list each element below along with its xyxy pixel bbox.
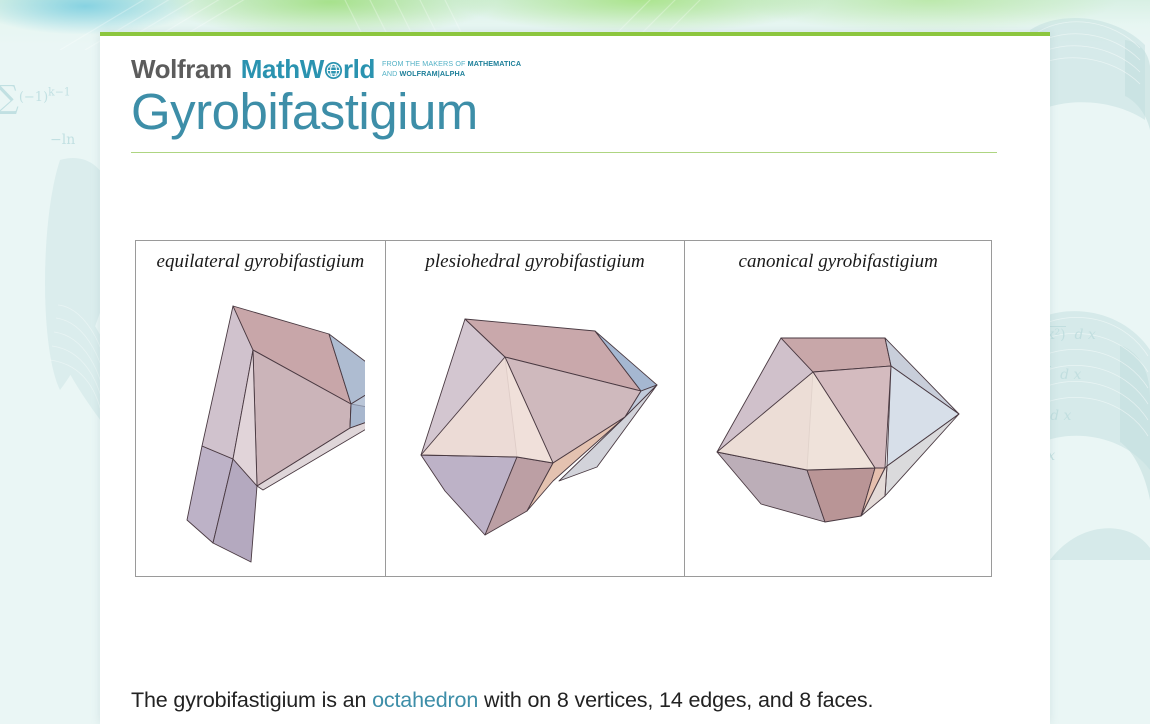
table-caption-row: equilateral gyrobifastigium plesiohedral… bbox=[136, 241, 992, 281]
logo-world-suffix: rld bbox=[343, 56, 375, 82]
logo-mathworld-text: MathWrld bbox=[241, 56, 375, 82]
equilateral-gyrobifastigium-figure bbox=[155, 290, 365, 566]
logo-tagline: FROM THE MAKERS OF MATHEMATICA AND WOLFR… bbox=[382, 59, 521, 80]
figures-table: equilateral gyrobifastigium plesiohedral… bbox=[135, 240, 992, 577]
logo-world-prefix: W bbox=[300, 56, 324, 82]
tagline-line-1: FROM THE MAKERS OF MATHEMATICA bbox=[382, 59, 521, 68]
globe-icon bbox=[324, 58, 343, 77]
page-title: Gyrobifastigium bbox=[131, 84, 478, 140]
background-surface-plot-left bbox=[0, 150, 115, 480]
body-text-part2: with on 8 vertices, 14 edges, and 8 face… bbox=[478, 688, 873, 712]
canonical-gyrobifastigium-figure bbox=[709, 324, 967, 532]
content-panel: Wolfram MathWrld FROM THE MAKERS OF MATH… bbox=[100, 32, 1050, 724]
body-paragraph: The gyrobifastigium is an octahedron wit… bbox=[131, 688, 873, 713]
table-figure-row bbox=[136, 281, 992, 577]
figure-cell bbox=[685, 281, 992, 577]
plesiohedral-gyrobifastigium-figure bbox=[409, 305, 661, 551]
site-logo[interactable]: Wolfram MathWrld FROM THE MAKERS OF MATH… bbox=[131, 56, 521, 82]
logo-wolfram-text: Wolfram bbox=[131, 56, 232, 82]
logo-math-text: Math bbox=[241, 56, 300, 82]
figure-caption-cell: canonical gyrobifastigium bbox=[685, 241, 992, 281]
figure-cell bbox=[136, 281, 386, 577]
title-divider bbox=[131, 152, 997, 153]
figure-cell bbox=[385, 281, 685, 577]
figure-caption-cell: equilateral gyrobifastigium bbox=[136, 241, 386, 281]
tagline-line-2: AND WOLFRAM|ALPHA bbox=[382, 69, 465, 78]
octahedron-link[interactable]: octahedron bbox=[372, 688, 478, 712]
figure-caption-cell: plesiohedral gyrobifastigium bbox=[385, 241, 685, 281]
body-text-part1: The gyrobifastigium is an bbox=[131, 688, 372, 712]
